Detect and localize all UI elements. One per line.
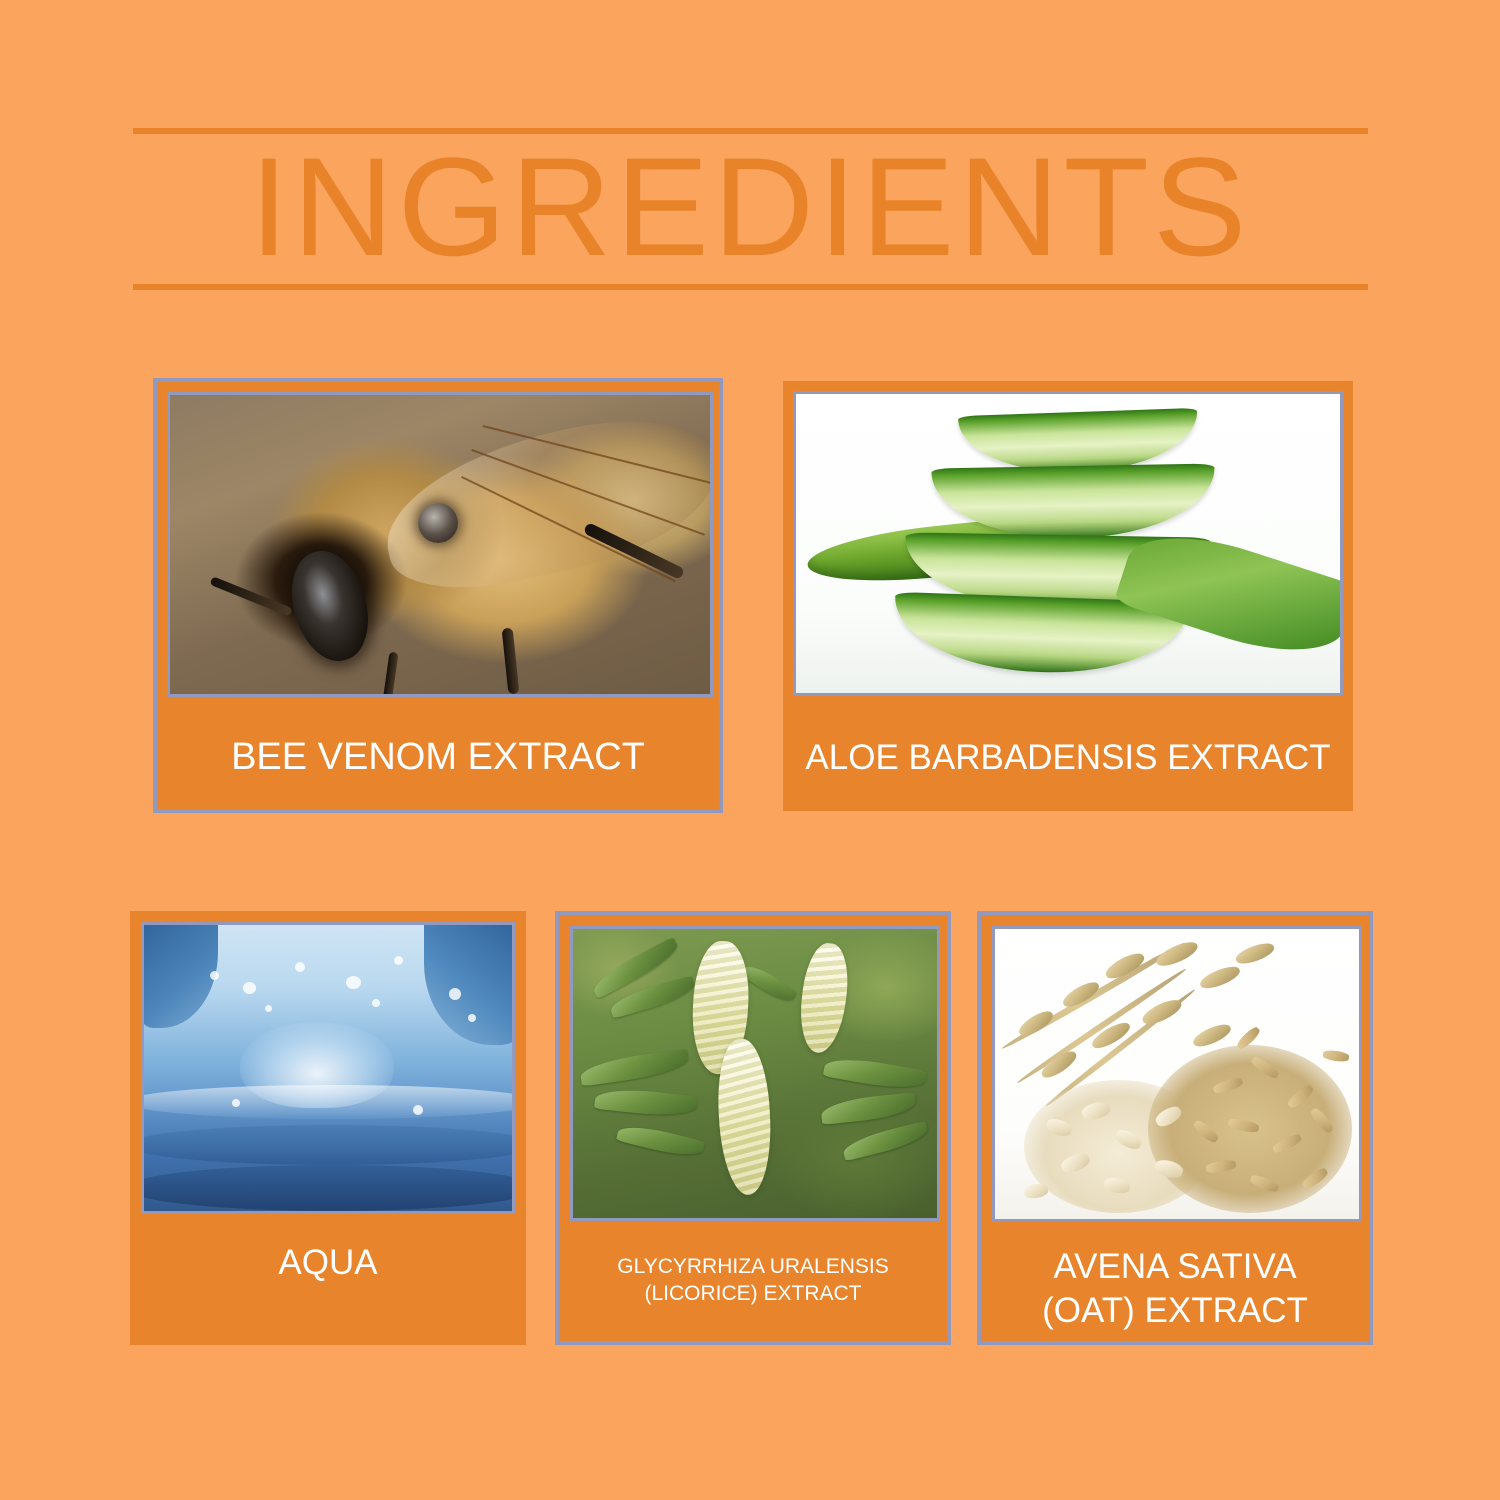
- water-bubble: [394, 956, 403, 965]
- water-bubble: [413, 1105, 423, 1115]
- bee-illustration: [170, 395, 710, 694]
- header: INGREDIENTS: [0, 0, 1500, 330]
- licorice-leaf: [616, 1121, 706, 1162]
- licorice-flower-spike: [715, 1038, 774, 1196]
- water-bubble: [346, 976, 361, 989]
- card-caption-licorice-line2: (LICORICE) EXTRACT: [559, 1280, 947, 1307]
- water-bubble: [372, 999, 380, 1007]
- bee-photo: [167, 392, 713, 697]
- water-bubble: [243, 982, 256, 994]
- ingredient-card-licorice[interactable]: GLYCYRRHIZA URALENSIS (LICORICE) EXTRACT: [555, 911, 951, 1345]
- licorice-leaf: [823, 1053, 927, 1093]
- bee-antenna: [209, 576, 292, 617]
- bee-leg: [501, 628, 519, 695]
- oat-grain: [1322, 1049, 1349, 1063]
- water-bubble: [210, 971, 219, 980]
- aloe-photo: [793, 391, 1343, 696]
- bee-compound-eye: [280, 543, 380, 671]
- licorice-flower-spike: [796, 941, 853, 1055]
- water-rock-left: [141, 922, 218, 1028]
- oat-flake: [1023, 1183, 1049, 1200]
- card-caption-bee-venom: BEE VENOM EXTRACT: [157, 734, 719, 780]
- water-bubble: [468, 1014, 476, 1022]
- card-caption-aloe: ALOE BARBADENSIS EXTRACT: [783, 736, 1353, 780]
- oat-kernel: [1139, 996, 1184, 1029]
- card-caption-oat-line2: (OAT) EXTRACT: [981, 1289, 1369, 1333]
- ingredient-card-bee-venom[interactable]: BEE VENOM EXTRACT: [153, 378, 723, 813]
- water-bubble: [265, 1005, 272, 1012]
- water-rock-right: [424, 922, 515, 1045]
- ingredient-card-oat[interactable]: AVENA SATIVA (OAT) EXTRACT: [977, 911, 1373, 1345]
- bee-leg: [383, 652, 399, 697]
- card-caption-oat-line1: AVENA SATIVA: [981, 1245, 1369, 1289]
- licorice-leaf: [820, 1092, 917, 1125]
- water-wave: [141, 1165, 515, 1211]
- oat-kernel: [1154, 938, 1201, 971]
- page-title: INGREDIENTS: [0, 132, 1500, 282]
- bee-ocellus: [418, 503, 458, 543]
- oat-kernel: [1234, 940, 1277, 968]
- oat-illustration: [995, 929, 1359, 1219]
- ingredient-card-aloe[interactable]: ALOE BARBADENSIS EXTRACT: [783, 381, 1353, 811]
- aqua-photo: [141, 922, 515, 1214]
- oat-photo: [992, 926, 1362, 1222]
- licorice-photo: [570, 926, 940, 1221]
- licorice-leaf: [594, 1086, 698, 1120]
- card-caption-aqua: AQUA: [130, 1241, 526, 1285]
- licorice-leaf: [741, 960, 799, 1007]
- aloe-illustration: [796, 394, 1340, 693]
- water-bubble: [295, 962, 305, 972]
- water-wave: [141, 1085, 515, 1119]
- title-rule-bottom: [133, 284, 1368, 290]
- oat-kernel: [1190, 1020, 1233, 1050]
- water-illustration: [144, 925, 512, 1211]
- licorice-leaf: [841, 1121, 931, 1162]
- card-caption-licorice-line1: GLYCYRRHIZA URALENSIS: [559, 1253, 947, 1280]
- water-wave: [141, 1125, 515, 1165]
- oat-kernel: [1198, 962, 1243, 992]
- ingredient-card-aqua[interactable]: AQUA: [130, 911, 526, 1345]
- licorice-leaf: [579, 1049, 690, 1087]
- licorice-illustration: [573, 929, 937, 1218]
